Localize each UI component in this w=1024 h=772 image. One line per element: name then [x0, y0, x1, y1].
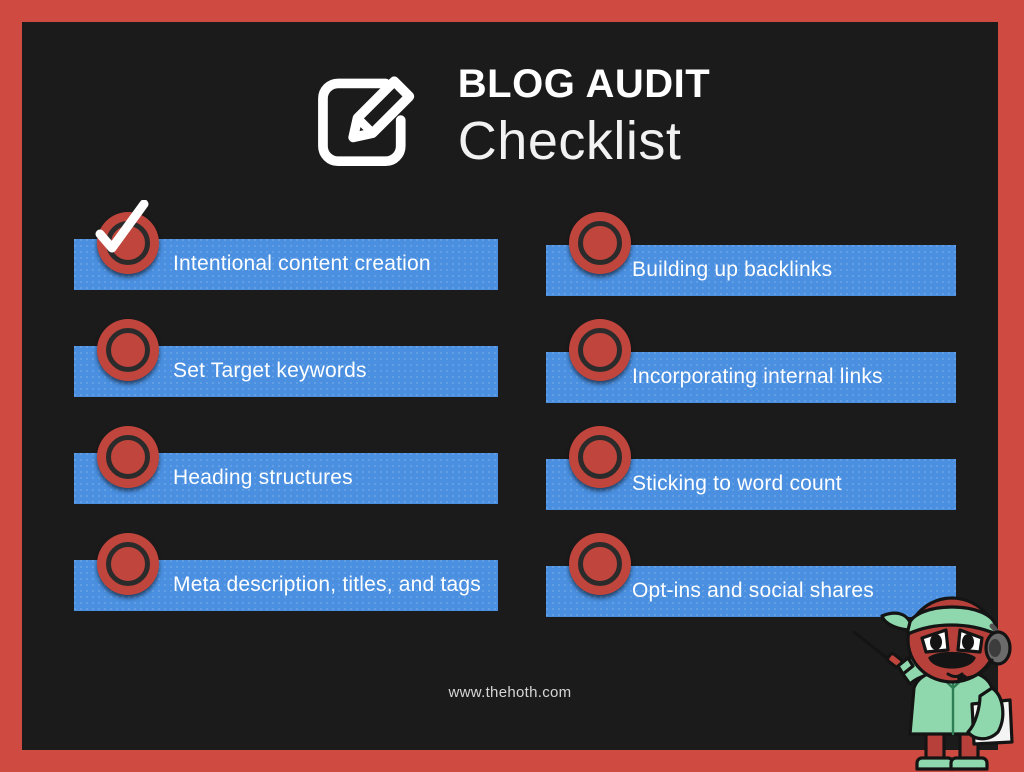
- circle-bullet-icon[interactable]: [97, 319, 159, 381]
- list-item[interactable]: Incorporating internal links: [546, 319, 970, 426]
- list-item[interactable]: Meta description, titles, and tags: [74, 533, 498, 640]
- header: BLOG AUDIT Checklist: [22, 36, 998, 196]
- checklist-column-right: Building up backlinks Incorporating inte…: [546, 212, 970, 640]
- circle-bullet-icon[interactable]: [569, 426, 631, 488]
- circle-bullet-icon[interactable]: [569, 319, 631, 381]
- edit-pencil-icon: [310, 64, 418, 172]
- list-item-label: Opt-ins and social shares: [632, 580, 874, 601]
- list-item-label: Building up backlinks: [632, 259, 832, 280]
- list-item[interactable]: Set Target keywords: [74, 319, 498, 426]
- list-item-label: Meta description, titles, and tags: [173, 574, 481, 595]
- circle-bullet-icon[interactable]: [97, 533, 159, 595]
- circle-bullet-icon[interactable]: [569, 212, 631, 274]
- circle-bullet-icon[interactable]: [569, 533, 631, 595]
- checklist: Intentional content creation Set Target …: [22, 212, 998, 652]
- list-item-label: Set Target keywords: [173, 360, 367, 381]
- list-item-label: Sticking to word count: [632, 473, 842, 494]
- list-item[interactable]: Building up backlinks: [546, 212, 970, 319]
- circle-bullet-icon[interactable]: [97, 426, 159, 488]
- list-item-label: Intentional content creation: [173, 253, 431, 274]
- checklist-column-left: Intentional content creation Set Target …: [74, 212, 498, 640]
- list-item[interactable]: Intentional content creation: [74, 212, 498, 319]
- list-item[interactable]: Sticking to word count: [546, 426, 970, 533]
- page-subtitle: Checklist: [458, 114, 710, 168]
- circle-bullet-icon[interactable]: [97, 212, 159, 274]
- list-item[interactable]: Heading structures: [74, 426, 498, 533]
- hoth-mascot-illustration: [848, 592, 1024, 772]
- list-item-label: Heading structures: [173, 467, 353, 488]
- list-item-label: Incorporating internal links: [632, 366, 883, 387]
- checklist-infographic: BLOG AUDIT Checklist Intentional content…: [0, 0, 1024, 772]
- title-block: BLOG AUDIT Checklist: [458, 64, 710, 168]
- page-title: BLOG AUDIT: [458, 64, 710, 104]
